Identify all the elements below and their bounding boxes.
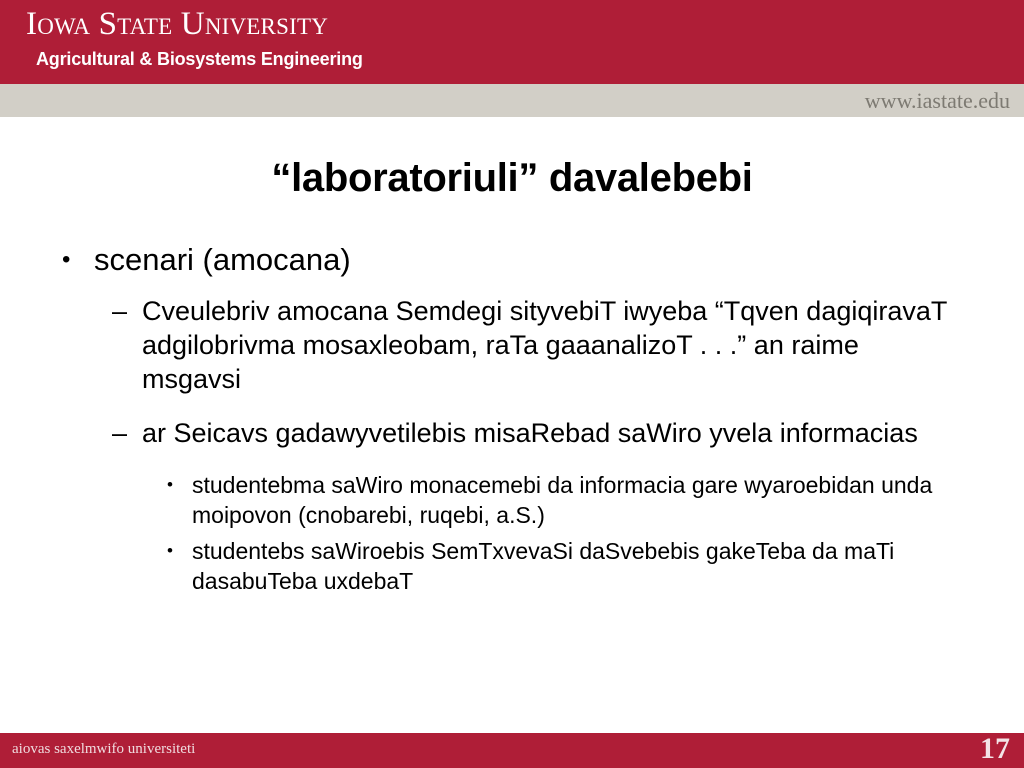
footer-organization-label: aiovas saxelmwifo universiteti	[12, 738, 195, 760]
slide-content-body: • scenari (amocana) – Cveulebriv amocana…	[0, 240, 1024, 602]
bullet-text: Cveulebriv amocana Semdegi sityvebiT iwy…	[142, 294, 1024, 396]
slide-page-number: 17	[980, 731, 1010, 767]
university-wordmark: Iowa State University	[26, 6, 328, 42]
bullet-text: studentebs saWiroebis SemTxvevaSi daSveb…	[192, 536, 1024, 596]
department-name: Agricultural & Biosystems Engineering	[36, 48, 363, 70]
bullet-level3: • studentebs saWiroebis SemTxvevaSi daSv…	[0, 536, 1024, 596]
bullet-dot-icon: •	[167, 536, 192, 566]
bullet-text: scenari (amocana)	[94, 240, 1024, 280]
spacer	[0, 458, 1024, 470]
university-website-url: www.iastate.edu	[865, 87, 1010, 115]
spacer	[0, 404, 1024, 416]
bullet-level2: – ar Seicavs gadawyvetilebis misaRebad s…	[0, 416, 1024, 450]
bullet-text: studentebma saWiro monacemebi da informa…	[192, 470, 1024, 530]
bullet-dash-icon: –	[112, 416, 142, 450]
bullet-level2: – Cveulebriv amocana Semdegi sityvebiT i…	[0, 294, 1024, 396]
bullet-dot-icon: •	[62, 240, 94, 280]
bullet-level3: • studentebma saWiro monacemebi da infor…	[0, 470, 1024, 530]
bullet-dash-icon: –	[112, 294, 142, 328]
bullet-dot-icon: •	[167, 470, 192, 500]
presentation-slide: { "theme": { "crimson": "#AF1E37", "band…	[0, 0, 1024, 768]
slide-title: “laboratoriuli” davalebebi	[0, 154, 1024, 202]
bullet-text: ar Seicavs gadawyvetilebis misaRebad saW…	[142, 416, 1024, 450]
bullet-level1: • scenari (amocana)	[0, 240, 1024, 280]
